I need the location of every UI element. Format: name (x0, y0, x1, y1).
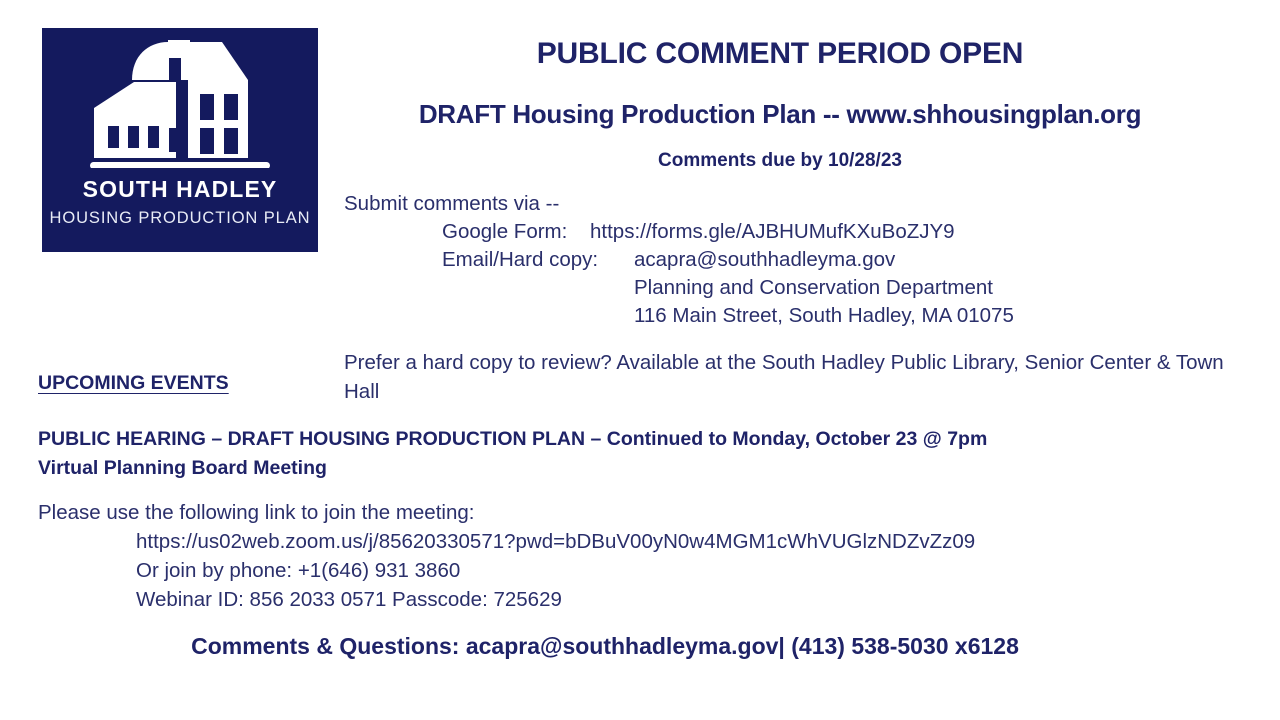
google-form-label: Google Form: (442, 218, 590, 246)
submit-comments-block: Submit comments via -- Google Form:https… (344, 190, 1014, 330)
public-hearing-subtitle: Virtual Planning Board Meeting (38, 454, 987, 483)
hard-copy-note: Prefer a hard copy to review? Available … (344, 348, 1244, 406)
house-duplex-icon (72, 36, 288, 168)
public-hearing-title: PUBLIC HEARING – DRAFT HOUSING PRODUCTIO… (38, 425, 987, 454)
zoom-meeting-link[interactable]: https://us02web.zoom.us/j/85620330571?pw… (38, 527, 975, 556)
upcoming-events-heading: UPCOMING EVENTS (38, 372, 229, 395)
join-meeting-block: Please use the following link to join th… (38, 498, 975, 614)
department-address: 116 Main Street, South Hadley, MA 01075 (344, 302, 1014, 330)
page-headline: PUBLIC COMMENT PERIOD OPEN (330, 37, 1230, 71)
webinar-id-passcode: Webinar ID: 856 2033 0571 Passcode: 7256… (38, 585, 975, 614)
page-subheadline: DRAFT Housing Production Plan -- www.shh… (330, 99, 1230, 130)
email-hardcopy-label: Email/Hard copy: (442, 246, 634, 274)
submit-intro: Submit comments via -- (344, 190, 1014, 218)
logo-subtitle: HOUSING PRODUCTION PLAN (50, 209, 311, 228)
comments-due-date: Comments due by 10/28/23 (330, 150, 1230, 172)
public-hearing-block: PUBLIC HEARING – DRAFT HOUSING PRODUCTIO… (38, 425, 987, 483)
south-hadley-hpp-logo: SOUTH HADLEY HOUSING PRODUCTION PLAN (42, 28, 318, 252)
email-hardcopy-row: Email/Hard copy:acapra@southhadleyma.gov (344, 246, 1014, 274)
join-intro: Please use the following link to join th… (38, 498, 975, 527)
footer-contact: Comments & Questions: acapra@southhadley… (0, 633, 1280, 660)
google-form-link[interactable]: https://forms.gle/AJBHUMufKXuBoZJY9 (590, 220, 955, 243)
google-form-row: Google Form:https://forms.gle/AJBHUMufKX… (344, 218, 1014, 246)
logo-title: SOUTH HADLEY (83, 176, 278, 203)
join-by-phone: Or join by phone: +1(646) 931 3860 (38, 556, 975, 585)
contact-email-link[interactable]: acapra@southhadleyma.gov (634, 248, 895, 271)
department-name: Planning and Conservation Department (344, 274, 1014, 302)
